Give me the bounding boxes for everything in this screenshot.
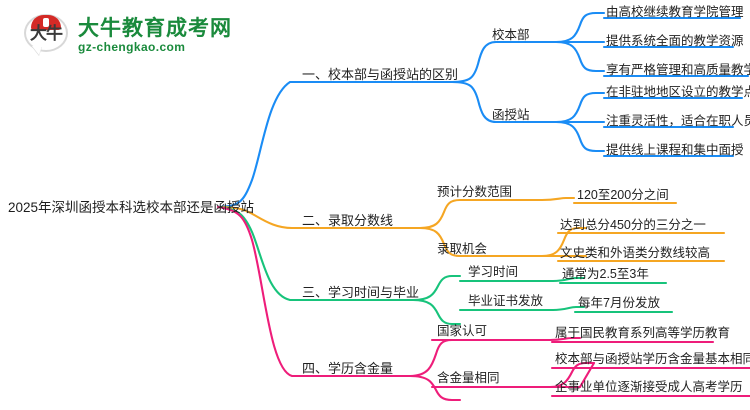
sub-node-4-1[interactable]: 国家认可 — [437, 323, 487, 340]
site-logo: 大牛 大牛教育成考网 gz-chengkao.com — [24, 14, 232, 58]
link-b1c1-leaf3 — [556, 42, 604, 71]
logo-text: 大牛教育成考网 gz-chengkao.com — [78, 17, 232, 55]
leaf-node-1-2-2[interactable]: 注重灵活性，适合在职人员 — [606, 113, 750, 130]
leaf-node-4-2-2[interactable]: 企事业单位逐渐接受成人高考学历 — [555, 379, 743, 396]
link-b2c1-leaf1 — [542, 198, 574, 200]
leaf-node-1-1-2[interactable]: 提供系统全面的教学资源 — [606, 33, 744, 50]
link-b1c2-leaf1 — [556, 93, 604, 122]
sub-node-4-2[interactable]: 含金量相同 — [437, 370, 500, 387]
link-root-branch-3 — [218, 207, 300, 300]
leaf-node-2-2-1[interactable]: 达到总分450分的三分之一 — [560, 217, 706, 234]
leaf-node-1-1-3[interactable]: 享有严格管理和高质量教学服务 — [606, 62, 750, 79]
branch-node-1[interactable]: 一、校本部与函授站的区别 — [302, 66, 458, 83]
sub-node-2-2[interactable]: 录取机会 — [437, 241, 487, 258]
link-branch3-c1 — [413, 276, 460, 300]
sub-node-2-1[interactable]: 预计分数范围 — [437, 184, 512, 201]
sub-node-1-1[interactable]: 校本部 — [492, 27, 530, 44]
link-branch3-c2 — [413, 300, 460, 324]
mindmap-root-node[interactable]: 2025年深圳函授本科选校本部还是函授站 — [8, 199, 254, 216]
leaf-node-1-2-3[interactable]: 提供线上课程和集中面授 — [606, 142, 744, 159]
link-b1c2-leaf3 — [556, 122, 604, 151]
link-b1c1-leaf1 — [556, 13, 604, 42]
link-root-branch-1 — [218, 82, 300, 207]
logo-site-url: gz-chengkao.com — [78, 40, 232, 55]
leaf-node-3-1-1[interactable]: 通常为2.5至3年 — [562, 266, 649, 283]
sub-node-1-2[interactable]: 函授站 — [492, 107, 530, 124]
leaf-node-1-1-1[interactable]: 由高校继续教育学院管理 — [606, 4, 744, 21]
logo-mark-glyph: 大牛 — [24, 24, 68, 43]
sub-node-3-1[interactable]: 学习时间 — [468, 264, 518, 281]
leaf-node-4-2-1[interactable]: 校本部与函授站学历含金量基本相同 — [555, 351, 750, 368]
leaf-node-2-1-1[interactable]: 120至200分之间 — [577, 187, 669, 204]
branch-node-4[interactable]: 四、学历含金量 — [302, 360, 393, 377]
branch-node-2[interactable]: 二、录取分数线 — [302, 212, 393, 229]
leaf-node-1-2-1[interactable]: 在非驻地地区设立的教学点 — [606, 84, 750, 101]
link-branch1-to-children — [452, 42, 506, 82]
link-root-branch-4 — [218, 207, 300, 376]
logo-site-name: 大牛教育成考网 — [78, 17, 232, 40]
link-branch2-c1 — [420, 200, 468, 228]
leaf-node-3-2-1[interactable]: 每年7月份发放 — [578, 295, 660, 312]
sub-node-3-2[interactable]: 毕业证书发放 — [468, 293, 543, 310]
branch-node-3[interactable]: 三、学习时间与毕业 — [302, 284, 419, 301]
leaf-node-2-2-2[interactable]: 文史类和外语类分数线较高 — [560, 245, 710, 262]
leaf-node-4-1-1[interactable]: 属于国民教育系列高等学历教育 — [555, 325, 730, 342]
mindmap-canvas: 大牛 大牛教育成考网 gz-chengkao.com — [0, 0, 750, 410]
logo-bubble-icon: 大牛 — [24, 14, 70, 58]
